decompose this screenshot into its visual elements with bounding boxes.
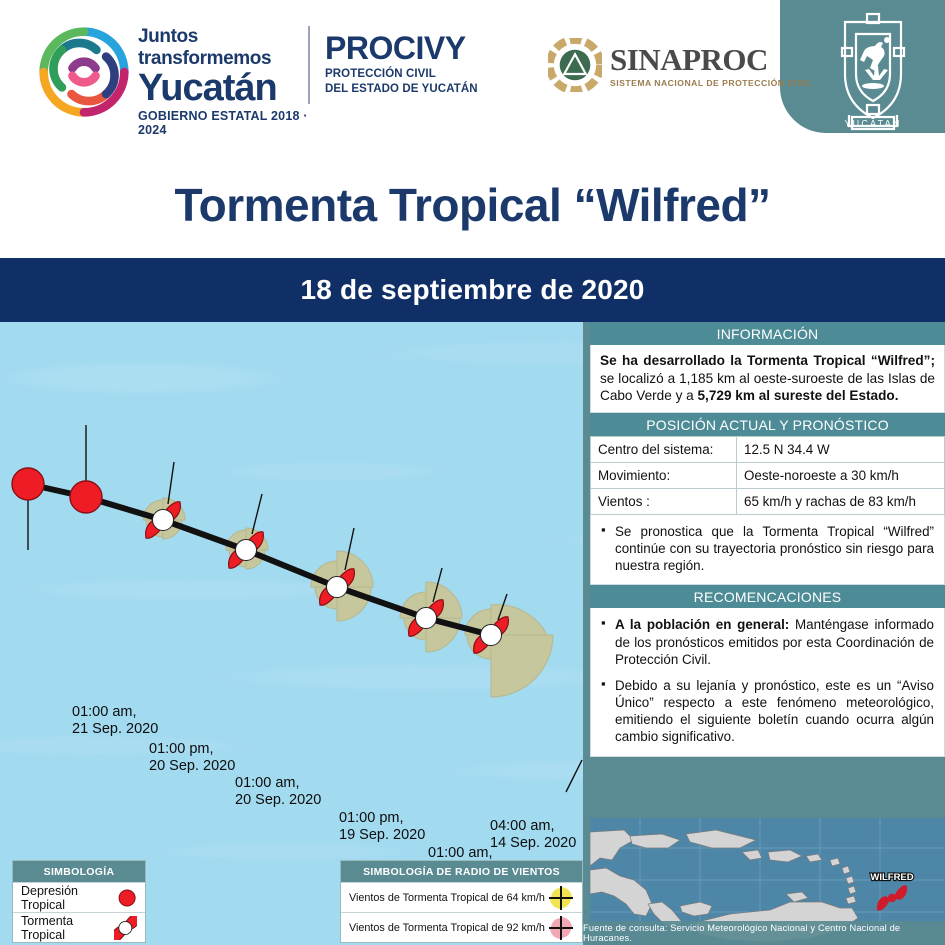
brand-line-gobierno: GOBIERNO ESTATAL 2018 · 2024: [138, 109, 308, 137]
track-label-3-date: 20 Sep. 2020: [235, 792, 321, 809]
legend-row-depresion: Depresión Tropical: [13, 882, 145, 912]
legend-row-tormenta: Tormenta Tropical: [13, 912, 145, 942]
forecast-note-item: Se pronostica que la Tormenta Tropical “…: [615, 523, 934, 574]
yucatan-government-logo-icon: [36, 24, 132, 120]
track-label-origin: 04:00 am, 14 Sep. 2020: [490, 818, 576, 852]
row-key-vientos: Vientos :: [591, 489, 737, 515]
recommendation-item-2: Debido a su lejanía y pronóstico, este e…: [615, 677, 934, 746]
date-banner: 18 de septiembre de 2020: [0, 258, 945, 322]
procivy-title: PROCIVY: [325, 30, 478, 67]
sinaproc-subtitle: SISTEMA NACIONAL DE PROTECCIÓN CIVIL: [610, 78, 812, 88]
track-point-depression-2: [70, 481, 102, 513]
source-note-bar: Fuente de consulta: Servicio Meteorológi…: [583, 921, 945, 945]
sinaproc-brand: SINAPROC SISTEMA NACIONAL DE PROTECCIÓN …: [548, 38, 812, 92]
page-title-wrap: Tormenta Tropical “Wilfred”: [0, 150, 945, 260]
recommendation-1-bold: A la población en general:: [615, 617, 789, 632]
row-value-vientos: 65 km/h y rachas de 83 km/h: [737, 489, 945, 515]
tropical-storm-symbol-icon: [114, 916, 137, 940]
row-value-centro: 12.5 N 34.4 W: [737, 437, 945, 463]
track-label-origin-date: 14 Sep. 2020: [490, 835, 576, 852]
legend-wind-heading: SIMBOLOGÍA DE RADIO DE VIENTOS: [341, 861, 582, 882]
recommendations-heading: RECOMENCACIONES: [590, 585, 945, 608]
row-key-movimiento: Movimiento:: [591, 463, 737, 489]
info-body-part1: Se ha desarrollado la Tormenta Tropical …: [600, 353, 935, 368]
sinaproc-emblem-icon: [548, 38, 602, 92]
info-body-part3: 5,729 km al sureste del Estado.: [698, 388, 899, 403]
info-body: Se ha desarrollado la Tormenta Tropical …: [590, 345, 945, 413]
track-label-2-time: 01:00 pm,: [149, 741, 235, 758]
procivy-brand: PROCIVY PROTECCIÓN CIVIL DEL ESTADO DE Y…: [325, 30, 478, 97]
legend-label-depresion: Depresión Tropical: [21, 884, 117, 912]
recommendations-list: A la población en general: Manténgase in…: [590, 608, 945, 756]
track-label-1: 01:00 am, 21 Sep. 2020: [72, 704, 158, 738]
brand-line-yucatan: Yucatán: [138, 70, 308, 106]
legend-label-wind-64: Vientos de Tormenta Tropical de 64 km/h: [349, 892, 545, 904]
sinaproc-title: SINAPROC: [610, 42, 812, 78]
track-label-3: 01:00 am, 20 Sep. 2020: [235, 775, 321, 809]
source-note-text: Fuente de consulta: Servicio Meteorológi…: [583, 923, 945, 943]
track-label-4-date: 19 Sep. 2020: [339, 827, 425, 844]
track-label-1-time: 01:00 am,: [72, 704, 158, 721]
track-label-1-date: 21 Sep. 2020: [72, 721, 158, 738]
legend-label-tormenta: Tormenta Tropical: [21, 914, 114, 942]
yellow-wind-radius-icon: [548, 885, 574, 911]
info-panel-inner: INFORMACIÓN Se ha desarrollado la Tormen…: [590, 322, 945, 757]
legend-label-wind-92: Vientos de Tormenta Tropical de 92 km/h: [349, 922, 545, 934]
brand-line-juntos: Juntos transformemos: [138, 26, 308, 70]
table-row-centro: Centro del sistema: 12.5 N 34.4 W: [591, 437, 945, 463]
forecast-note-list: Se pronostica que la Tormenta Tropical “…: [590, 515, 945, 585]
legend-symbols-heading: SIMBOLOGÍA: [13, 861, 145, 882]
red-filled-circle-icon: [117, 887, 137, 909]
track-label-2-date: 20 Sep. 2020: [149, 758, 235, 775]
inset-storm-label: WILFRED: [870, 872, 913, 883]
legend-row-wind-64: Vientos de Tormenta Tropical de 64 km/h: [341, 882, 582, 912]
header-divider: [308, 26, 310, 104]
table-row-vientos: Vientos : 65 km/h y rachas de 83 km/h: [591, 489, 945, 515]
date-banner-text: 18 de septiembre de 2020: [300, 274, 644, 306]
row-key-centro: Centro del sistema:: [591, 437, 737, 463]
procivy-subtitle-line1: PROTECCIÓN CIVIL: [325, 67, 478, 82]
shield-label: YUCATAN: [844, 119, 901, 129]
legend-row-wind-92: Vientos de Tormenta Tropical de 92 km/h: [341, 912, 582, 942]
position-heading: POSICIÓN ACTUAL Y PRONÓSTICO: [590, 413, 945, 436]
track-point-depression-1: [12, 468, 44, 500]
pink-wind-radius-icon: [548, 915, 574, 941]
position-table: Centro del sistema: 12.5 N 34.4 W Movimi…: [590, 436, 945, 515]
track-label-2: 01:00 pm, 20 Sep. 2020: [149, 741, 235, 775]
procivy-subtitle-line2: DEL ESTADO DE YUCATÁN: [325, 82, 478, 97]
row-value-movimiento: Oeste-noroeste a 30 km/h: [737, 463, 945, 489]
track-label-4: 01:00 pm, 19 Sep. 2020: [339, 810, 425, 844]
legend-symbols: SIMBOLOGÍA Depresión Tropical Tormenta T…: [12, 860, 146, 943]
yucatan-brand-text: Juntos transformemos Yucatán GOBIERNO ES…: [138, 26, 308, 137]
page-header: Juntos transformemos Yucatán GOBIERNO ES…: [0, 0, 945, 150]
recommendation-item-1: A la población en general: Manténgase in…: [615, 616, 934, 667]
table-row-movimiento: Movimiento: Oeste-noroeste a 30 km/h: [591, 463, 945, 489]
legend-wind-radius: SIMBOLOGÍA DE RADIO DE VIENTOS Vientos d…: [340, 860, 583, 943]
track-label-origin-time: 04:00 am,: [490, 818, 576, 835]
page-title: Tormenta Tropical “Wilfred”: [174, 178, 770, 232]
track-label-4-time: 01:00 pm,: [339, 810, 425, 827]
track-label-3-time: 01:00 am,: [235, 775, 321, 792]
info-heading: INFORMACIÓN: [590, 322, 945, 345]
yucatan-state-shield-icon: YUCATAN: [823, 12, 923, 132]
